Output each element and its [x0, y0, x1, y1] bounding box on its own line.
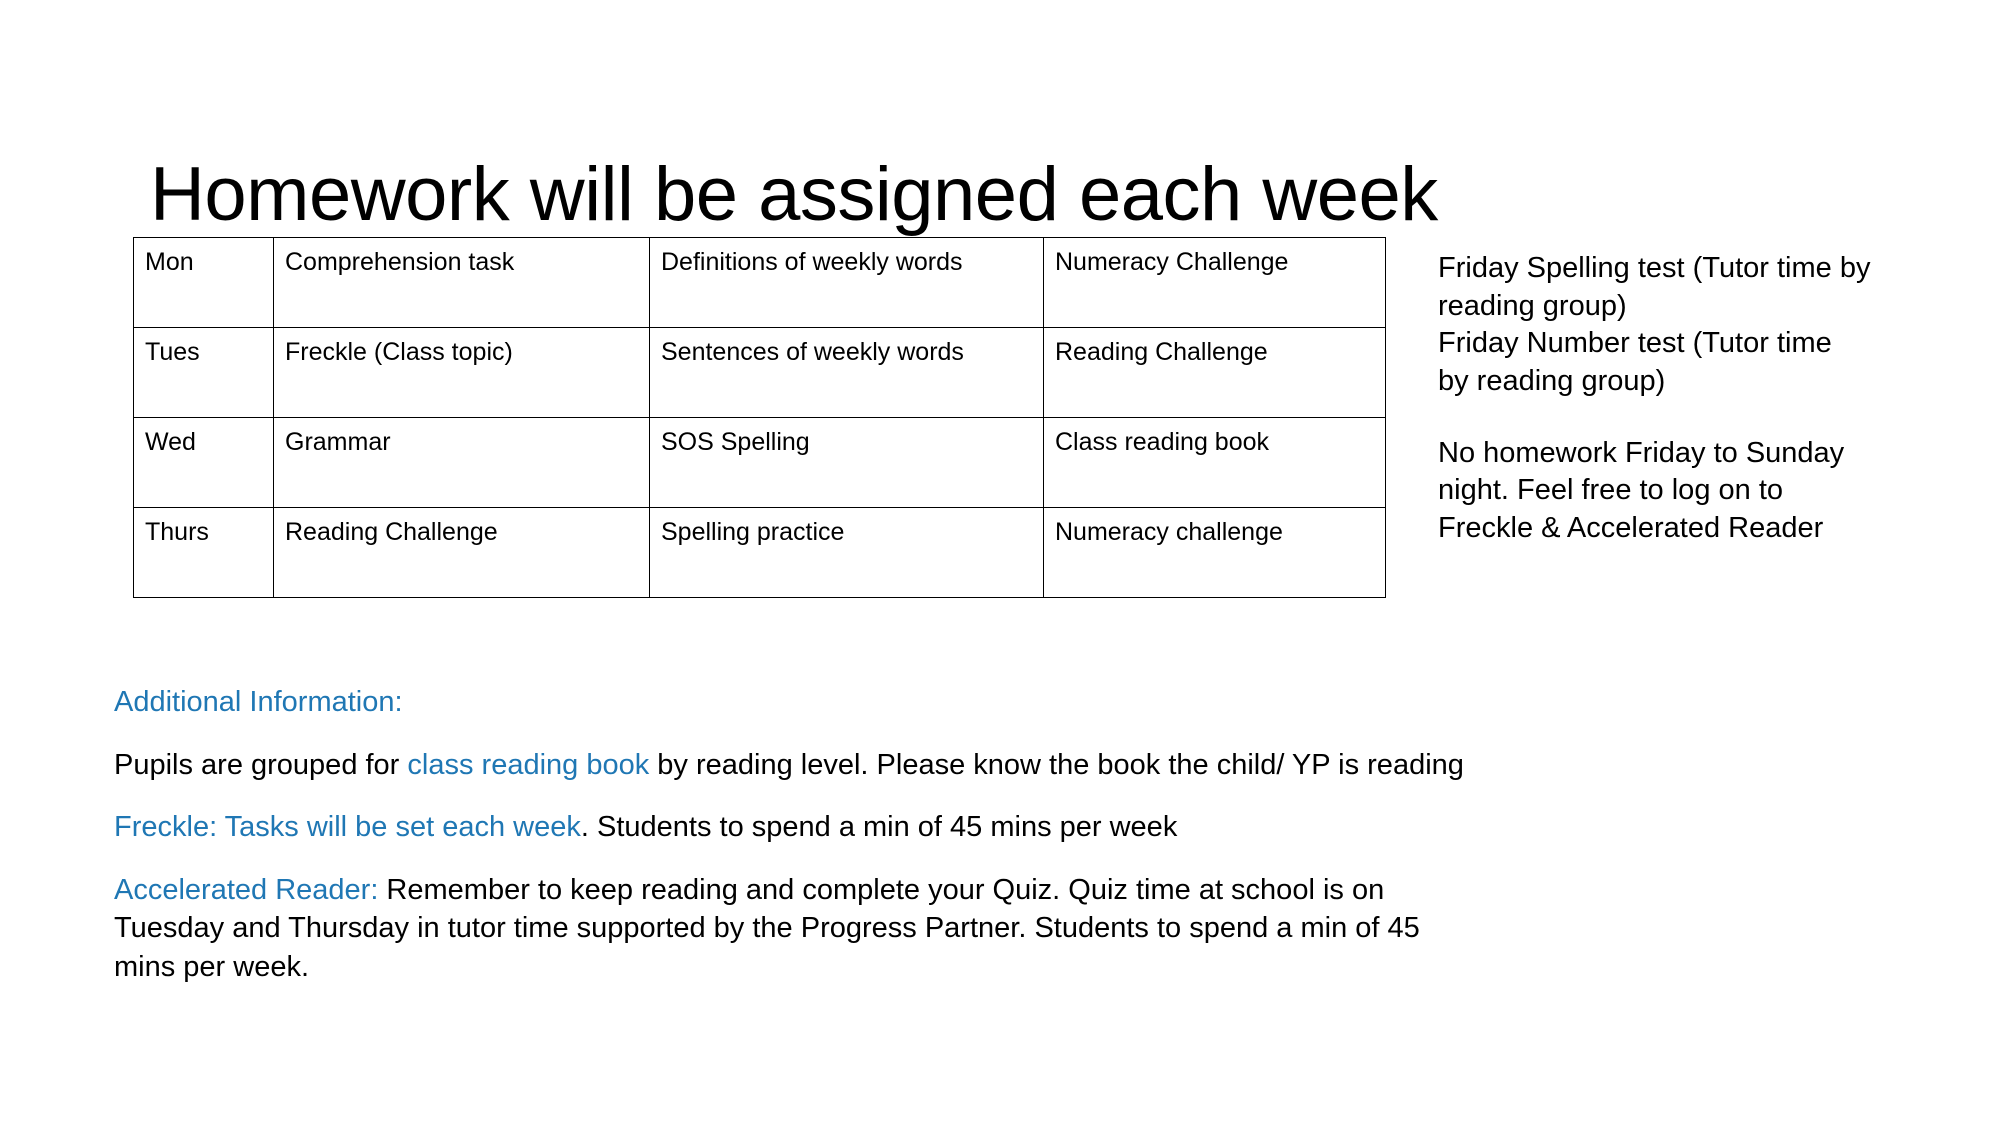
table-cell-task3: Reading Challenge [1044, 328, 1386, 418]
weekend-note-line-1: No homework Friday to Sunday [1438, 435, 1978, 473]
slide-canvas: Homework will be assigned each week Mon … [0, 0, 2000, 1125]
weekend-note: No homework Friday to Sunday night. Feel… [1438, 435, 1978, 548]
table-cell-task1: Reading Challenge [274, 508, 650, 598]
additional-information-heading: Additional Information: [114, 683, 1464, 722]
table-cell-task2: Spelling practice [650, 508, 1044, 598]
table-cell-day: Tues [134, 328, 274, 418]
friday-tests-line-4: by reading group) [1438, 363, 1978, 401]
table-cell-task2: Sentences of weekly words [650, 328, 1044, 418]
table-cell-task3: Numeracy Challenge [1044, 238, 1386, 328]
table-cell-task3: Numeracy challenge [1044, 508, 1386, 598]
table-cell-day: Wed [134, 418, 274, 508]
freckle-text: . Students to spend a min of 45 mins per… [581, 811, 1177, 843]
class-reading-book-link[interactable]: class reading book [407, 749, 649, 781]
accelerated-reader-paragraph: Accelerated Reader: Remember to keep rea… [114, 871, 1464, 987]
table-cell-task2: Definitions of weekly words [650, 238, 1044, 328]
table-row: Wed Grammar SOS Spelling Class reading b… [134, 418, 1386, 508]
friday-tests-line-1: Friday Spelling test (Tutor time by [1438, 250, 1978, 288]
friday-tests-line-2: reading group) [1438, 288, 1978, 326]
table-row: Tues Freckle (Class topic) Sentences of … [134, 328, 1386, 418]
homework-timetable: Mon Comprehension task Definitions of we… [133, 237, 1386, 598]
accelerated-reader-link[interactable]: Accelerated Reader: [114, 874, 378, 906]
freckle-link[interactable]: Freckle: Tasks will be set each week [114, 811, 581, 843]
table-cell-day: Mon [134, 238, 274, 328]
grouping-paragraph: Pupils are grouped for class reading boo… [114, 746, 1464, 785]
table-cell-task1: Freckle (Class topic) [274, 328, 650, 418]
grouping-text-before: Pupils are grouped for [114, 749, 407, 781]
page-title: Homework will be assigned each week [150, 155, 1850, 236]
grouping-text-after: by reading level. Please know the book t… [649, 749, 1464, 781]
friday-tests-note: Friday Spelling test (Tutor time by read… [1438, 250, 1978, 401]
table-cell-day: Thurs [134, 508, 274, 598]
table-cell-task1: Grammar [274, 418, 650, 508]
friday-tests-line-3: Friday Number test (Tutor time [1438, 325, 1978, 363]
table-row: Thurs Reading Challenge Spelling practic… [134, 508, 1386, 598]
table-cell-task3: Class reading book [1044, 418, 1386, 508]
weekend-note-line-2: night. Feel free to log on to [1438, 472, 1978, 510]
additional-information-section: Additional Information: Pupils are group… [114, 683, 1464, 986]
weekend-note-line-3: Freckle & Accelerated Reader [1438, 510, 1978, 548]
table-cell-task1: Comprehension task [274, 238, 650, 328]
freckle-paragraph: Freckle: Tasks will be set each week. St… [114, 808, 1464, 847]
table-row: Mon Comprehension task Definitions of we… [134, 238, 1386, 328]
table-cell-task2: SOS Spelling [650, 418, 1044, 508]
side-notes: Friday Spelling test (Tutor time by read… [1438, 250, 1978, 548]
